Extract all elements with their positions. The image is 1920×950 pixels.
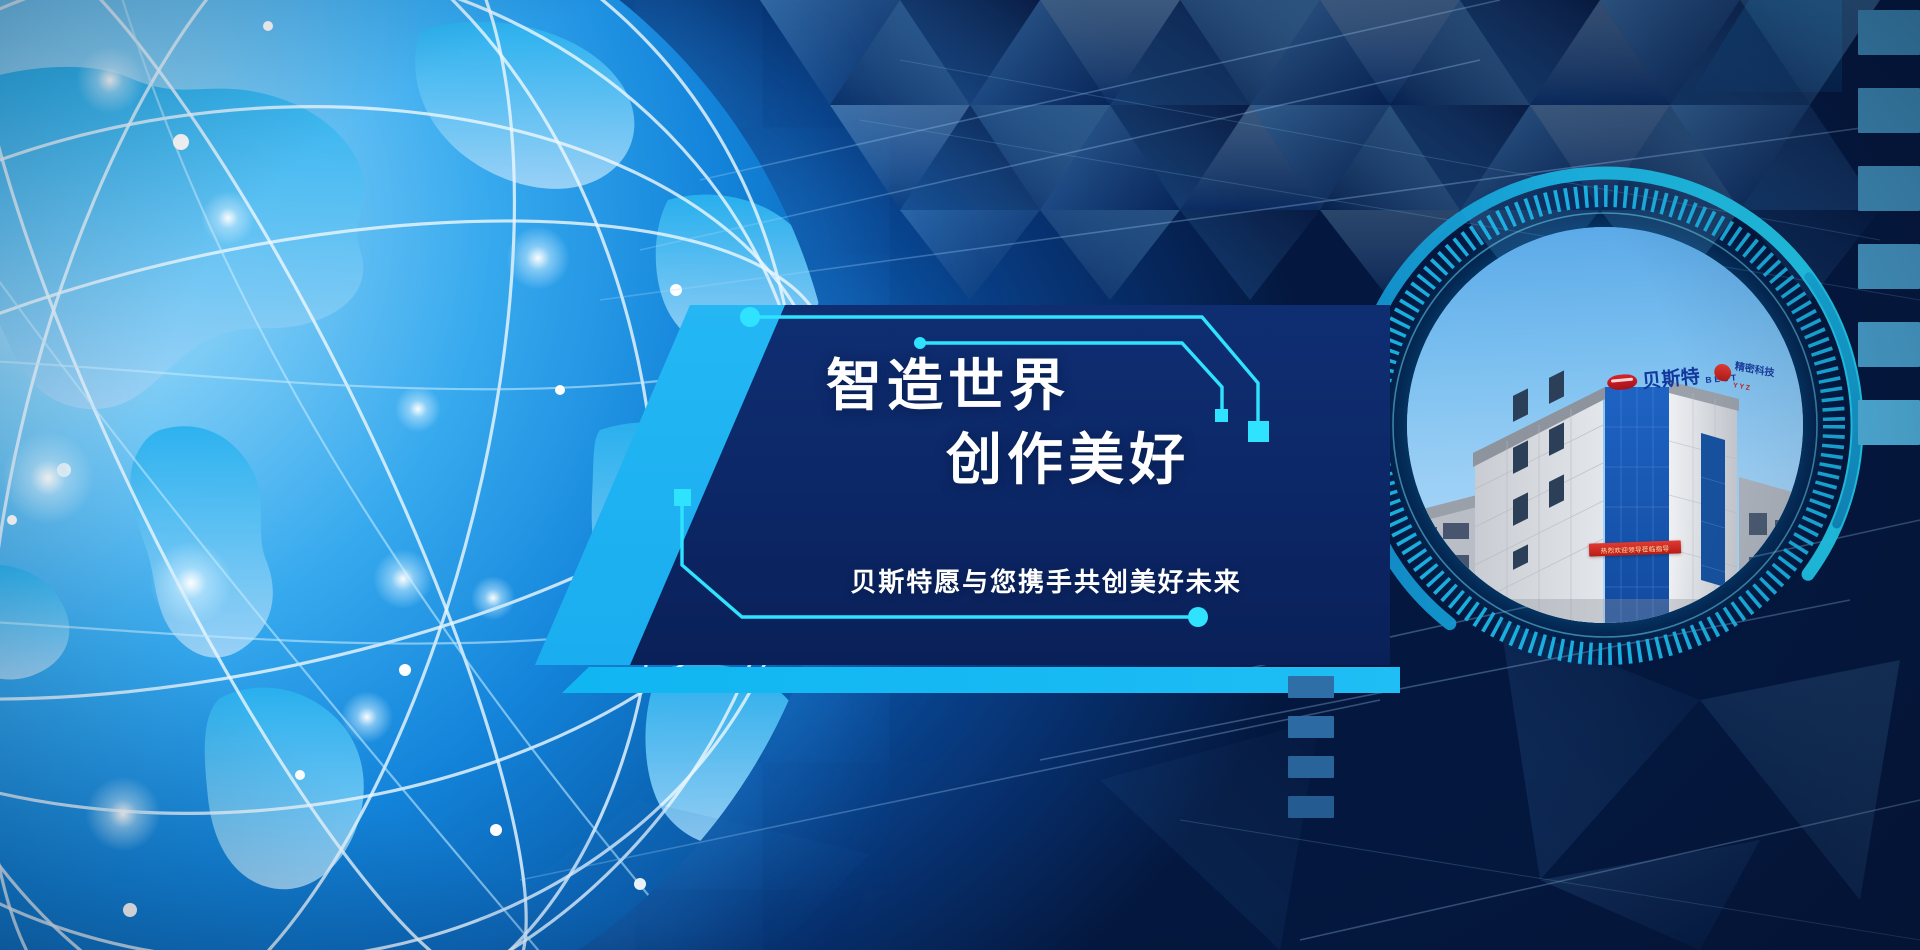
vertical-marker-bars <box>1288 676 1336 836</box>
vertical-bar <box>1288 716 1334 738</box>
edge-bar <box>1858 10 1920 55</box>
edge-bar <box>1858 88 1920 133</box>
vertical-bar <box>1288 756 1334 778</box>
edge-bar <box>1858 244 1920 289</box>
edge-bar <box>1858 166 1920 211</box>
headline-text-block: 智造世界 创作美好 <box>630 305 1390 665</box>
edge-bar <box>1858 322 1920 367</box>
building-illustration <box>1407 227 1803 623</box>
headline-line-2: 创作美好 <box>630 431 1360 489</box>
company-logo-mark <box>1607 373 1638 391</box>
secondary-sign-cn: 精密科技 <box>1734 362 1775 380</box>
building-photo: 贝斯特 BEST 精密科技 YYZ 热烈欢迎领导莅临指导 <box>1407 227 1803 623</box>
edge-bar <box>1858 400 1920 445</box>
secondary-logo-mark <box>1713 363 1731 383</box>
building-sign-cn: 贝斯特 <box>1641 361 1701 393</box>
headline-panel: 智造世界 创作美好 贝斯特愿与您携手共创美好未来 <box>630 305 1390 665</box>
subtitle-text: 贝斯特愿与您携手共创美好未来 <box>630 562 1390 599</box>
hero-banner: 贝斯特 BEST 精密科技 YYZ 热烈欢迎领导莅临指导 <box>0 0 1920 950</box>
panel-bottom-bar <box>562 667 1400 693</box>
circular-photo-frame: 贝斯特 BEST 精密科技 YYZ 热烈欢迎领导莅临指导 <box>1355 175 1855 675</box>
headline-line-1: 智造世界 <box>630 357 1360 415</box>
secondary-sign-sub: YYZ <box>1733 383 1752 393</box>
vertical-bar <box>1288 796 1334 818</box>
vertical-bar <box>1288 676 1334 698</box>
edge-marker-bars <box>1842 10 1920 478</box>
